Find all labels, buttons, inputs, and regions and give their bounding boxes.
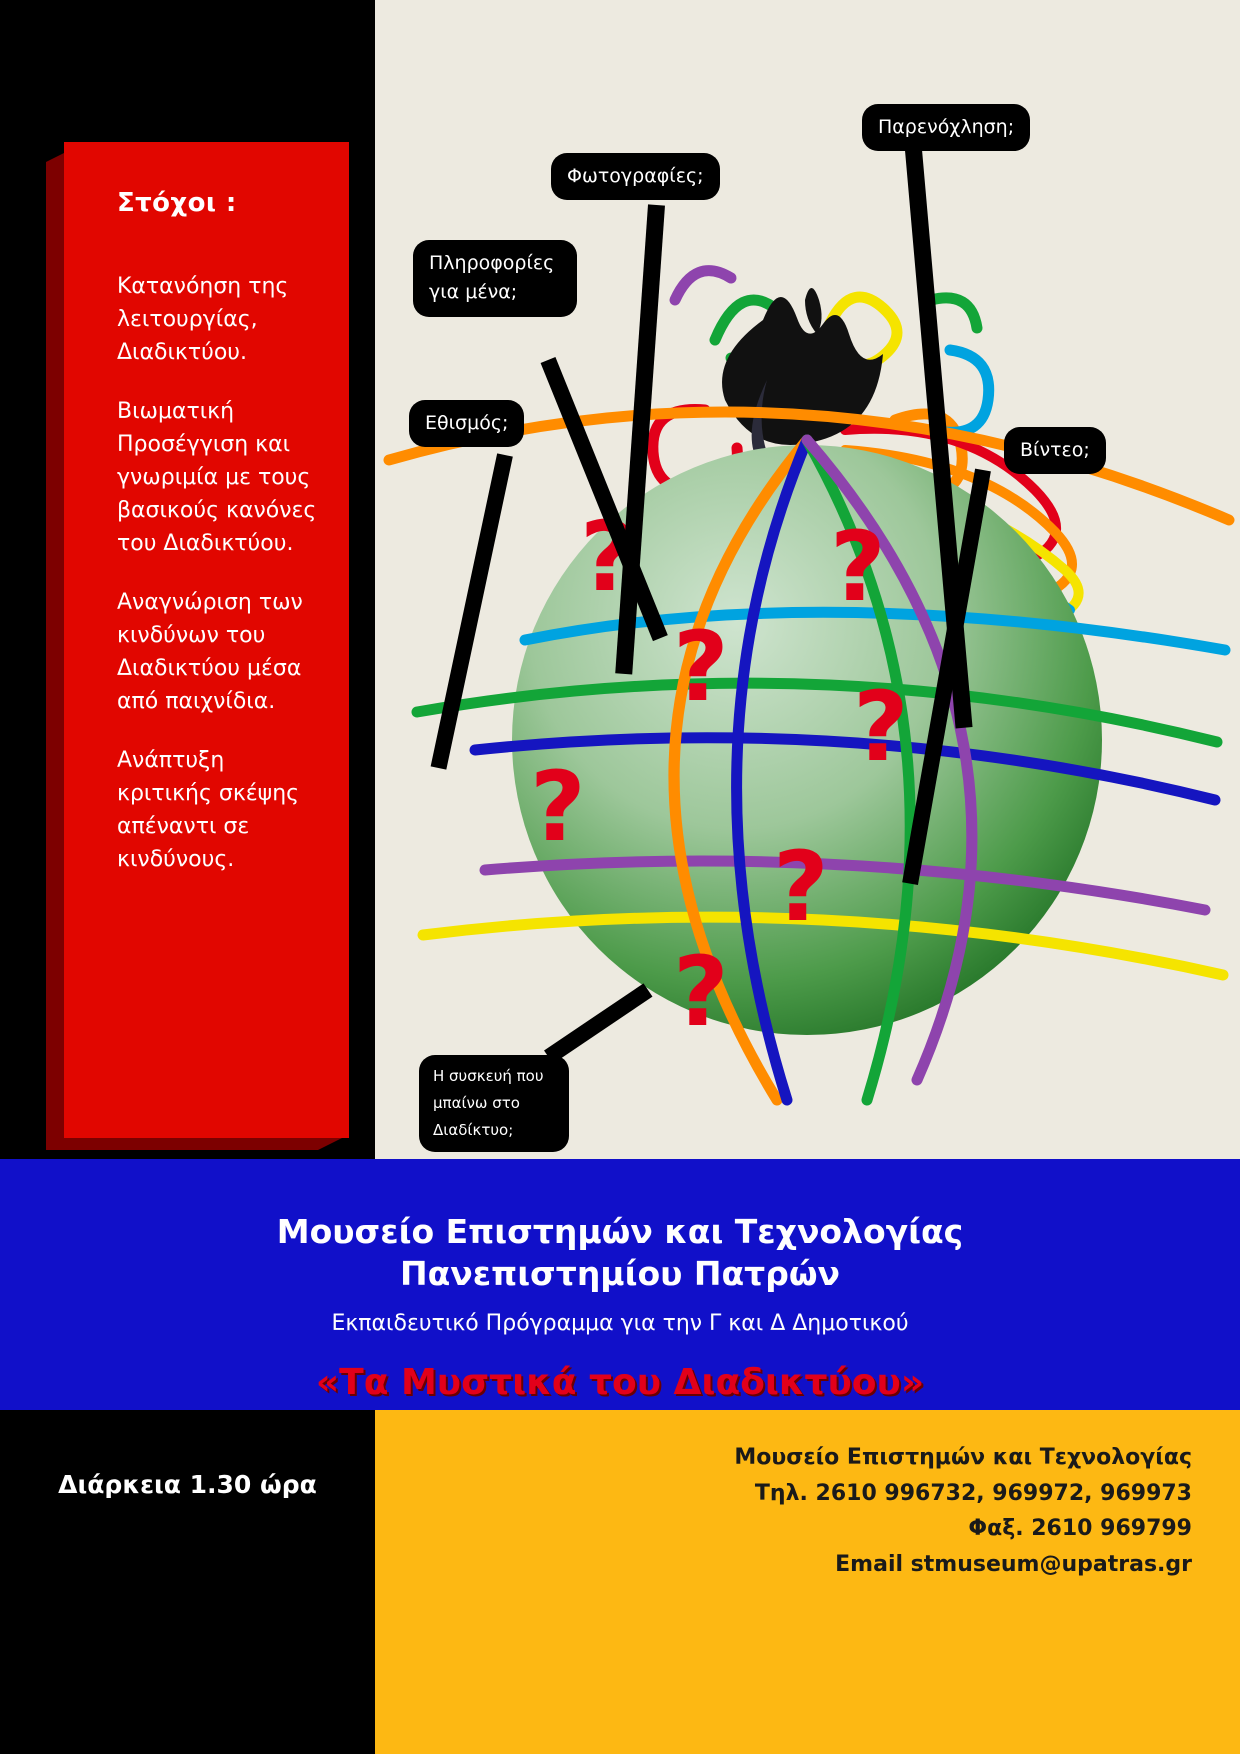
- program-subtitle: Εκπαιδευτικό Πρόγραμμα για την Γ και Δ Δ…: [0, 1311, 1240, 1336]
- bubble-fotografies[interactable]: Φωτογραφίες;: [551, 153, 720, 200]
- goals-title: Στόχοι :: [117, 188, 319, 218]
- contact-panel: Μουσείο Επιστημών και Τεχνολογίας Τηλ. 2…: [375, 1410, 1240, 1754]
- goal-item: Ανάπτυξη κριτικής σκέψης απέναντι σε κιν…: [117, 744, 319, 876]
- goal-item: Αναγνώριση των κινδύνων του Διαδικτύου μ…: [117, 586, 319, 718]
- globe-illustration: ? ? ? ? ? ? ?: [375, 0, 1240, 1159]
- goal-item: Βιωματική Προσέγγιση και γνωριμία με του…: [117, 395, 319, 560]
- bottom-black-panel: [0, 1410, 375, 1754]
- contact-phone: Τηλ. 2610 996732, 969972, 969973: [375, 1476, 1192, 1512]
- blue-footer-band: Μουσείο Επιστημών και Τεχνολογίας Πανεπι…: [0, 1159, 1240, 1410]
- svg-text:?: ?: [830, 511, 886, 623]
- duration-label: Διάρκεια 1.30 ώρα: [0, 1470, 375, 1499]
- program-title: «Τα Μυστικά του Διαδικτύου»: [0, 1362, 1240, 1403]
- museum-title-line2: Πανεπιστημίου Πατρών: [400, 1254, 840, 1293]
- goals-panel: Στόχοι : Κατανόηση της λειτουργίας, Διαδ…: [64, 142, 349, 1138]
- bubble-syskevi[interactable]: Η συσκευή που μπαίνω στο Διαδίκτυο;: [419, 1055, 569, 1152]
- bubble-ethismos[interactable]: Εθισμός;: [409, 400, 524, 447]
- bubble-vinteo[interactable]: Βίντεο;: [1004, 427, 1106, 474]
- svg-text:?: ?: [673, 611, 729, 723]
- contact-email[interactable]: Email stmuseum@upatras.gr: [375, 1547, 1192, 1583]
- svg-text:?: ?: [530, 751, 586, 863]
- svg-text:?: ?: [673, 936, 729, 1048]
- bubble-parenochlisi[interactable]: Παρενόχληση;: [862, 104, 1030, 151]
- bubble-plirofories[interactable]: Πληροφορίες για μένα;: [413, 240, 577, 317]
- svg-text:?: ?: [773, 831, 829, 943]
- contact-fax: Φαξ. 2610 969799: [375, 1511, 1192, 1547]
- goal-item: Κατανόηση της λειτουργίας, Διαδικτύου.: [117, 270, 319, 369]
- museum-title-line1: Μουσείο Επιστημών και Τεχνολογίας: [277, 1212, 963, 1251]
- contact-name: Μουσείο Επιστημών και Τεχνολογίας: [375, 1440, 1192, 1476]
- museum-title: Μουσείο Επιστημών και Τεχνολογίας Πανεπι…: [0, 1159, 1240, 1295]
- poster-root: ? ? ? ? ? ? ? Παρενόχληση; Φωτογραφίες; …: [0, 0, 1240, 1754]
- svg-text:?: ?: [853, 671, 909, 783]
